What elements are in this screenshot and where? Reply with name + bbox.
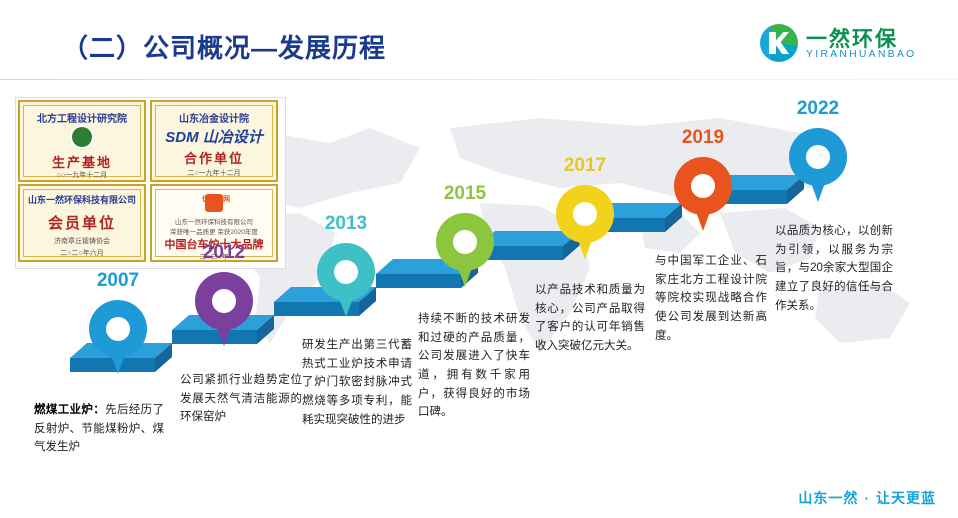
slide: （二）公司概况—发展历程 一然环保 YIRANHUANBAO 北方工程设计研究院… <box>0 0 958 518</box>
milestone-desc-2013-text: 研发生产出第三代蓄热式工业炉技术申请了炉门软密封脉冲式燃烧等多项专利，能耗实现突… <box>302 339 412 426</box>
milestone-desc-2015: 持续不断的技术研发和过硬的产品质量，公司发展进入了快车道，拥有数千家用户，获得良… <box>418 310 530 422</box>
milestone-pin-2015[interactable]: 2015 <box>436 213 494 291</box>
milestone-pin-2022[interactable]: 2022 <box>789 128 847 206</box>
milestone-desc-2007: 燃煤工业炉：先后经历了反射炉、节能煤粉炉、煤气发生炉 <box>34 401 164 457</box>
pin-hole <box>806 145 830 169</box>
footer-slogan: 山东一然·让天更蓝 <box>798 488 936 508</box>
milestone-desc-2019: 与中国军工企业、石家庄北方工程设计院等院校实现战略合作使公司发展到达新高度。 <box>655 252 767 345</box>
pin-hole <box>106 317 130 341</box>
pin-hole <box>334 260 358 284</box>
milestone-pin-2012[interactable]: 2012 <box>195 272 253 350</box>
footer-dot: · <box>858 490 876 506</box>
milestone-year-2019: 2019 <box>660 127 746 149</box>
milestone-pin-2017[interactable]: 2017 <box>556 185 614 263</box>
pin-hole <box>691 174 715 198</box>
pin-tail <box>213 316 235 346</box>
pin-tail <box>107 344 129 374</box>
milestone-desc-2019-text: 与中国军工企业、石家庄北方工程设计院等院校实现战略合作使公司发展到达新高度。 <box>655 255 767 342</box>
milestone-desc-2012: 公司紧抓行业趋势定位发展天然气清洁能源的环保窑炉 <box>180 371 302 427</box>
milestone-pin-2013[interactable]: 2013 <box>317 243 375 321</box>
pin-tail <box>574 229 596 259</box>
logo-mark-icon <box>760 24 798 62</box>
pin-tail <box>454 257 476 287</box>
certificate-1-line1: 北方工程设计研究院 <box>20 110 144 125</box>
certificate-1-seal-icon <box>69 124 95 150</box>
certificate-2-brand: SDM 山冶设计 <box>152 126 276 147</box>
pin-hole <box>573 202 597 226</box>
milestone-year-2012: 2012 <box>181 242 267 264</box>
certificate-2-line1: 山东冶金设计院 <box>152 110 276 125</box>
page-title: （二）公司概况—发展历程 <box>62 28 386 65</box>
pin-hole <box>453 230 477 254</box>
milestone-desc-2017-text: 以产品技术和质量为核心，公司产品取得了客户的认可年销售收入突破亿元大关。 <box>535 284 645 352</box>
milestone-year-2015: 2015 <box>422 183 508 205</box>
milestone-year-2007: 2007 <box>75 270 161 292</box>
milestone-desc-2017: 以产品技术和质量为核心，公司产品取得了客户的认可年销售收入突破亿元大关。 <box>535 281 645 356</box>
logo-company-name-en: YIRANHUANBAO <box>806 48 916 60</box>
footer-right: 让天更蓝 <box>876 490 936 506</box>
pin-tail <box>807 172 829 202</box>
header-divider <box>0 79 958 80</box>
milestone-desc-2013: 研发生产出第三代蓄热式工业炉技术申请了炉门软密封脉冲式燃烧等多项专利，能耗实现突… <box>302 336 412 429</box>
footer-left: 山东一然 <box>798 490 858 506</box>
milestone-year-2022: 2022 <box>775 98 861 120</box>
milestone-desc-2022-text: 以品质为核心，以创新为引领，以服务为宗旨，与20余家大型国企建立了良好的信任与合… <box>775 225 893 312</box>
milestone-desc-2022: 以品质为核心，以创新为引领，以服务为宗旨，与20余家大型国企建立了良好的信任与合… <box>775 222 893 315</box>
company-logo: 一然环保 YIRANHUANBAO <box>760 22 940 66</box>
milestone-year-2013: 2013 <box>303 213 389 235</box>
pin-tail <box>692 201 714 231</box>
pin-hole <box>212 289 236 313</box>
pin-tail <box>335 287 357 317</box>
milestone-pin-2007[interactable]: 2007 <box>89 300 147 378</box>
milestone-desc-2007-bold: 燃煤工业炉： <box>34 404 105 416</box>
milestone-desc-2015-text: 持续不断的技术研发和过硬的产品质量，公司发展进入了快车道，拥有数千家用户，获得良… <box>418 313 530 418</box>
milestone-pin-2019[interactable]: 2019 <box>674 157 732 235</box>
milestone-desc-2012-text: 公司紧抓行业趋势定位发展天然气清洁能源的环保窑炉 <box>180 374 302 423</box>
milestone-year-2017: 2017 <box>542 155 628 177</box>
